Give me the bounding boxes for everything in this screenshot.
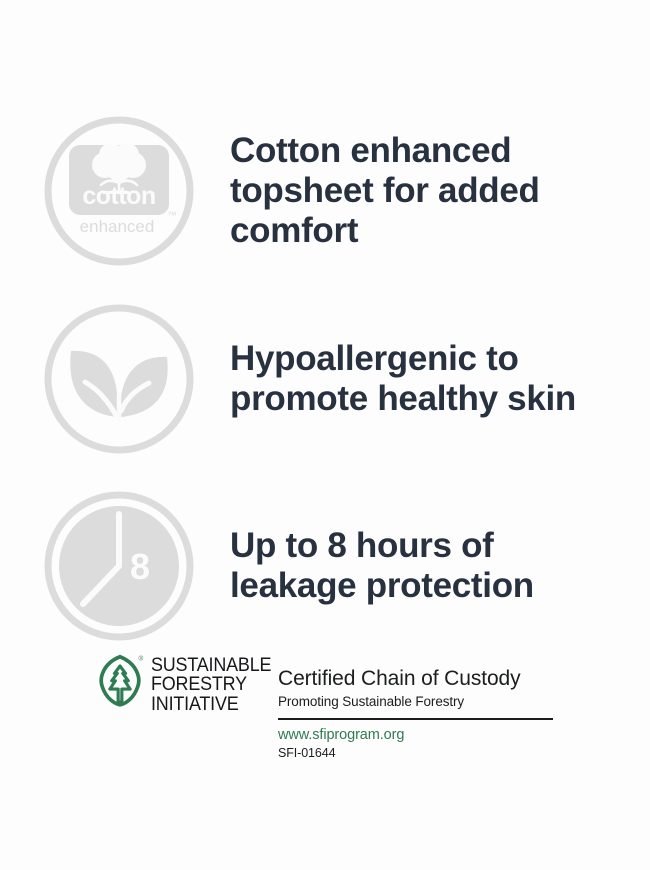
- feature-headline-cotton: Cotton enhanced topsheet for added comfo…: [230, 131, 636, 251]
- feature-text-cell: Hypoallergenic to promote healthy skin: [230, 339, 650, 419]
- cotton-enhanced-subtitle: enhanced: [80, 217, 155, 236]
- certification-title: Certified Chain of Custody: [278, 668, 650, 690]
- sfi-certification-block: ® SUSTAINABLE FORESTRY INITIATIVE Certif…: [0, 648, 650, 778]
- sfi-wordmark-line-3: INITIATIVE: [151, 695, 271, 714]
- sfi-wordmark: SUSTAINABLE FORESTRY INITIATIVE: [151, 654, 271, 714]
- feature-headline-hypoallergenic: Hypoallergenic to promote healthy skin: [230, 339, 636, 419]
- sfi-logo: ® SUSTAINABLE FORESTRY INITIATIVE: [0, 648, 278, 714]
- sfi-leaf-tree-icon: ®: [96, 654, 144, 711]
- sfi-license-code: SFI-01644: [278, 745, 650, 761]
- feature-icon-cell: [0, 300, 230, 458]
- sfi-certification-details: Certified Chain of Custody Promoting Sus…: [278, 648, 650, 761]
- divider-rule: [278, 718, 553, 720]
- cotton-trademark-symbol: ™: [168, 210, 177, 220]
- feature-row-leakage-protection: 8 Up to 8 hours of leakage protection: [0, 487, 650, 645]
- sfi-registered-symbol: ®: [138, 654, 143, 662]
- feature-text-cell: Up to 8 hours of leakage protection: [230, 526, 650, 606]
- feature-row-hypoallergenic: Hypoallergenic to promote healthy skin: [0, 300, 650, 458]
- cotton-enhanced-badge-icon: cotton ™ enhanced: [39, 111, 199, 271]
- certification-subtitle: Promoting Sustainable Forestry: [278, 693, 650, 711]
- clock-icon: 8: [39, 486, 199, 646]
- feature-row-cotton: cotton ™ enhanced Cotton enhanced topshe…: [0, 112, 650, 270]
- feature-headline-leakage-protection: Up to 8 hours of leakage protection: [230, 526, 636, 606]
- sfi-wordmark-line-2: FORESTRY: [151, 675, 271, 694]
- feature-text-cell: Cotton enhanced topsheet for added comfo…: [230, 131, 650, 251]
- leaves-icon: [39, 299, 199, 459]
- clock-hour-numeral: 8: [130, 546, 150, 587]
- feature-icon-cell: cotton ™ enhanced: [0, 112, 230, 270]
- sfi-website-link[interactable]: www.sfiprogram.org: [278, 726, 650, 744]
- cotton-wordmark-text: cotton: [82, 182, 155, 210]
- feature-icon-cell: 8: [0, 487, 230, 645]
- product-feature-panel: cotton ™ enhanced Cotton enhanced topshe…: [0, 0, 650, 870]
